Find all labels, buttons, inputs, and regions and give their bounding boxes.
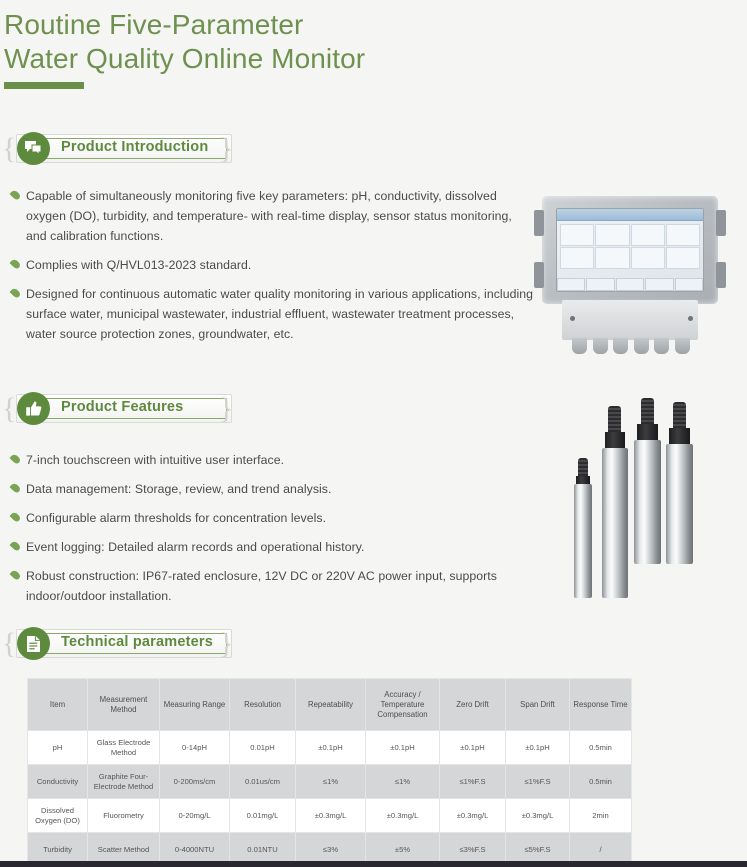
list-item-text: Data management: Storage, review, and tr… (26, 482, 331, 496)
list-item: Event logging: Detailed alarm records an… (4, 537, 524, 557)
table-cell: ±0.1pH (366, 731, 440, 765)
screen-readout-cell (631, 247, 665, 269)
screen-readout-cell (631, 224, 665, 246)
list-item-text: 7-inch touchscreen with intuitive user i… (26, 453, 284, 467)
probe-body (602, 448, 628, 598)
table-row: Conductivity Graphite Four-Electrode Met… (28, 765, 632, 799)
speech-bubble-icon (17, 132, 50, 165)
screen-readout-cell (666, 247, 700, 269)
column-header: Repeatability (296, 679, 366, 731)
table-cell: 0.5min (570, 731, 632, 765)
table-cell: ±0.1pH (296, 731, 366, 765)
water-drop-bullet-icon (9, 511, 21, 523)
table-header-row: Item Measurement Method Measuring Range … (28, 679, 632, 731)
brace-left-icon: { (2, 395, 16, 423)
section-title: Product Features (61, 399, 183, 415)
hinge-clip (716, 262, 726, 288)
probe-body (574, 484, 592, 598)
water-drop-bullet-icon (9, 258, 21, 270)
probe-neck (605, 432, 625, 448)
table-cell: 0-200ms/cm (160, 765, 230, 799)
table-cell: Graphite Four-Electrode Method (88, 765, 160, 799)
sensor-probes-photo (570, 378, 746, 598)
table-cell: ≤1% (296, 765, 366, 799)
product-datasheet-page: Routine Five-Parameter Water Quality Onl… (0, 0, 747, 867)
introduction-bullet-list: Capable of simultaneously monitoring fiv… (4, 186, 534, 353)
cable-gland (593, 338, 608, 354)
list-item-text: Robust construction: IP67-rated enclosur… (26, 569, 497, 603)
screen-readout-cell (560, 247, 594, 269)
title-line-2: Water Quality Online Monitor (4, 42, 604, 76)
list-item-text: Configurable alarm thresholds for concen… (26, 511, 326, 525)
list-item-text: Capable of simultaneously monitoring fiv… (26, 189, 512, 243)
document-icon (17, 627, 50, 660)
monitor-enclosure-photo (532, 196, 728, 356)
screen-button (616, 278, 644, 291)
list-item: Capable of simultaneously monitoring fiv… (4, 186, 534, 246)
features-bullet-list: 7-inch touchscreen with intuitive user i… (4, 450, 524, 615)
screen-button (645, 278, 673, 291)
table-cell: Dissolved Oxygen (DO) (28, 799, 88, 833)
section-header-technical-parameters: { } Technical parameters (0, 629, 250, 665)
table-cell: 0-20mg/L (160, 799, 230, 833)
probe-body (666, 444, 693, 564)
hinge-clip (534, 210, 544, 236)
screen-title-bar (557, 209, 703, 221)
section-title: Technical parameters (61, 634, 213, 650)
probe-measuring-tip (666, 564, 693, 598)
table-cell: ±0.3mg/L (296, 799, 366, 833)
screen-readout-cell (666, 224, 700, 246)
table-cell: ±0.1pH (506, 731, 570, 765)
table-cell: ±0.3mg/L (506, 799, 570, 833)
screen-readout-grid (557, 221, 703, 272)
brace-left-icon: { (2, 135, 16, 163)
water-drop-bullet-icon (9, 482, 21, 494)
water-drop-bullet-icon (9, 569, 21, 581)
list-item: Data management: Storage, review, and tr… (4, 479, 524, 499)
brace-left-icon: { (2, 630, 16, 658)
water-drop-bullet-icon (9, 189, 21, 201)
screen-button (675, 278, 703, 291)
table-cell: ±0.3mg/L (366, 799, 440, 833)
list-item-text: Designed for continuous automatic water … (26, 287, 533, 341)
table-cell: Fluorometry (88, 799, 160, 833)
page-bottom-edge (0, 861, 747, 867)
column-header: Zero Drift (440, 679, 506, 731)
technical-parameters-table: Item Measurement Method Measuring Range … (27, 678, 631, 867)
cable-gland (654, 338, 669, 354)
screen-button (586, 278, 614, 291)
brace-right-icon: } (219, 395, 233, 423)
column-header: Response Time (570, 679, 632, 731)
table-cell: 2min (570, 799, 632, 833)
column-header: Item (28, 679, 88, 731)
column-header: Measurement Method (88, 679, 160, 731)
table-cell: pH (28, 731, 88, 765)
list-item: Designed for continuous automatic water … (4, 284, 534, 344)
probe-cable-gland (641, 398, 654, 424)
table-cell: Glass Electrode Method (88, 731, 160, 765)
section-header-product-introduction: { } Product Introduction (0, 134, 250, 170)
table-row: Dissolved Oxygen (DO) Fluorometry 0-20mg… (28, 799, 632, 833)
thumbs-up-icon (17, 392, 50, 425)
table-cell: ±0.3mg/L (440, 799, 506, 833)
screen-button-bar (557, 278, 703, 291)
screw (688, 316, 693, 321)
table-cell: ≤1%F.S (506, 765, 570, 799)
list-item-text: Complies with Q/HVL013-2023 standard. (26, 258, 251, 272)
title-underline (4, 82, 84, 89)
table-cell: 0-14pH (160, 731, 230, 765)
hinge-clip (534, 262, 544, 288)
list-item: Complies with Q/HVL013-2023 standard. (4, 255, 534, 275)
hinge-clip (716, 210, 726, 236)
list-item: 7-inch touchscreen with intuitive user i… (4, 450, 524, 470)
cable-gland-row (572, 338, 690, 354)
probe-cable-gland (673, 402, 686, 428)
column-header: Span Drift (506, 679, 570, 731)
list-item: Configurable alarm thresholds for concen… (4, 508, 524, 528)
table-cell: Conductivity (28, 765, 88, 799)
table-cell: 0.01us/cm (230, 765, 296, 799)
water-drop-bullet-icon (9, 540, 21, 552)
section-title: Product Introduction (61, 139, 208, 155)
sensor-probe (602, 406, 628, 598)
title-line-1: Routine Five-Parameter (4, 8, 604, 42)
table-cell: ±0.1pH (440, 731, 506, 765)
water-drop-bullet-icon (9, 453, 21, 465)
column-header: Accuracy / Temperature Compensation (366, 679, 440, 731)
probe-cable-gland (578, 458, 588, 476)
screen-readout-cell (595, 224, 629, 246)
table-cell: 0.01pH (230, 731, 296, 765)
screen-readout-cell (595, 247, 629, 269)
page-title: Routine Five-Parameter Water Quality Onl… (4, 8, 604, 89)
table-row: pH Glass Electrode Method 0-14pH 0.01pH … (28, 731, 632, 765)
device-touchscreen (556, 208, 704, 292)
screen-button (557, 278, 585, 291)
column-header: Measuring Range (160, 679, 230, 731)
brace-right-icon: } (219, 135, 233, 163)
list-item: Robust construction: IP67-rated enclosur… (4, 566, 524, 606)
probe-neck (669, 428, 690, 444)
cable-gland (613, 338, 628, 354)
table-cell: ≤1% (366, 765, 440, 799)
table-cell: ≤1%F.S (440, 765, 506, 799)
column-header: Resolution (230, 679, 296, 731)
sensor-probe (634, 398, 661, 598)
sensor-probe (666, 402, 693, 598)
cable-gland (634, 338, 649, 354)
screw (570, 316, 575, 321)
section-header-product-features: { } Product Features (0, 394, 250, 430)
cable-gland (675, 338, 690, 354)
water-drop-bullet-icon (9, 287, 21, 299)
probe-body (634, 440, 661, 564)
probe-neck (576, 476, 590, 484)
table-cell: 0.5min (570, 765, 632, 799)
screen-readout-cell (560, 224, 594, 246)
brace-right-icon: } (219, 630, 233, 658)
enclosure-base (562, 300, 698, 340)
cable-gland (572, 338, 587, 354)
table-cell: 0.01mg/L (230, 799, 296, 833)
probe-neck (637, 424, 658, 440)
probe-measuring-tip (634, 564, 661, 598)
sensor-probe (574, 458, 592, 598)
list-item-text: Event logging: Detailed alarm records an… (26, 540, 365, 554)
probe-cable-gland (608, 406, 621, 432)
